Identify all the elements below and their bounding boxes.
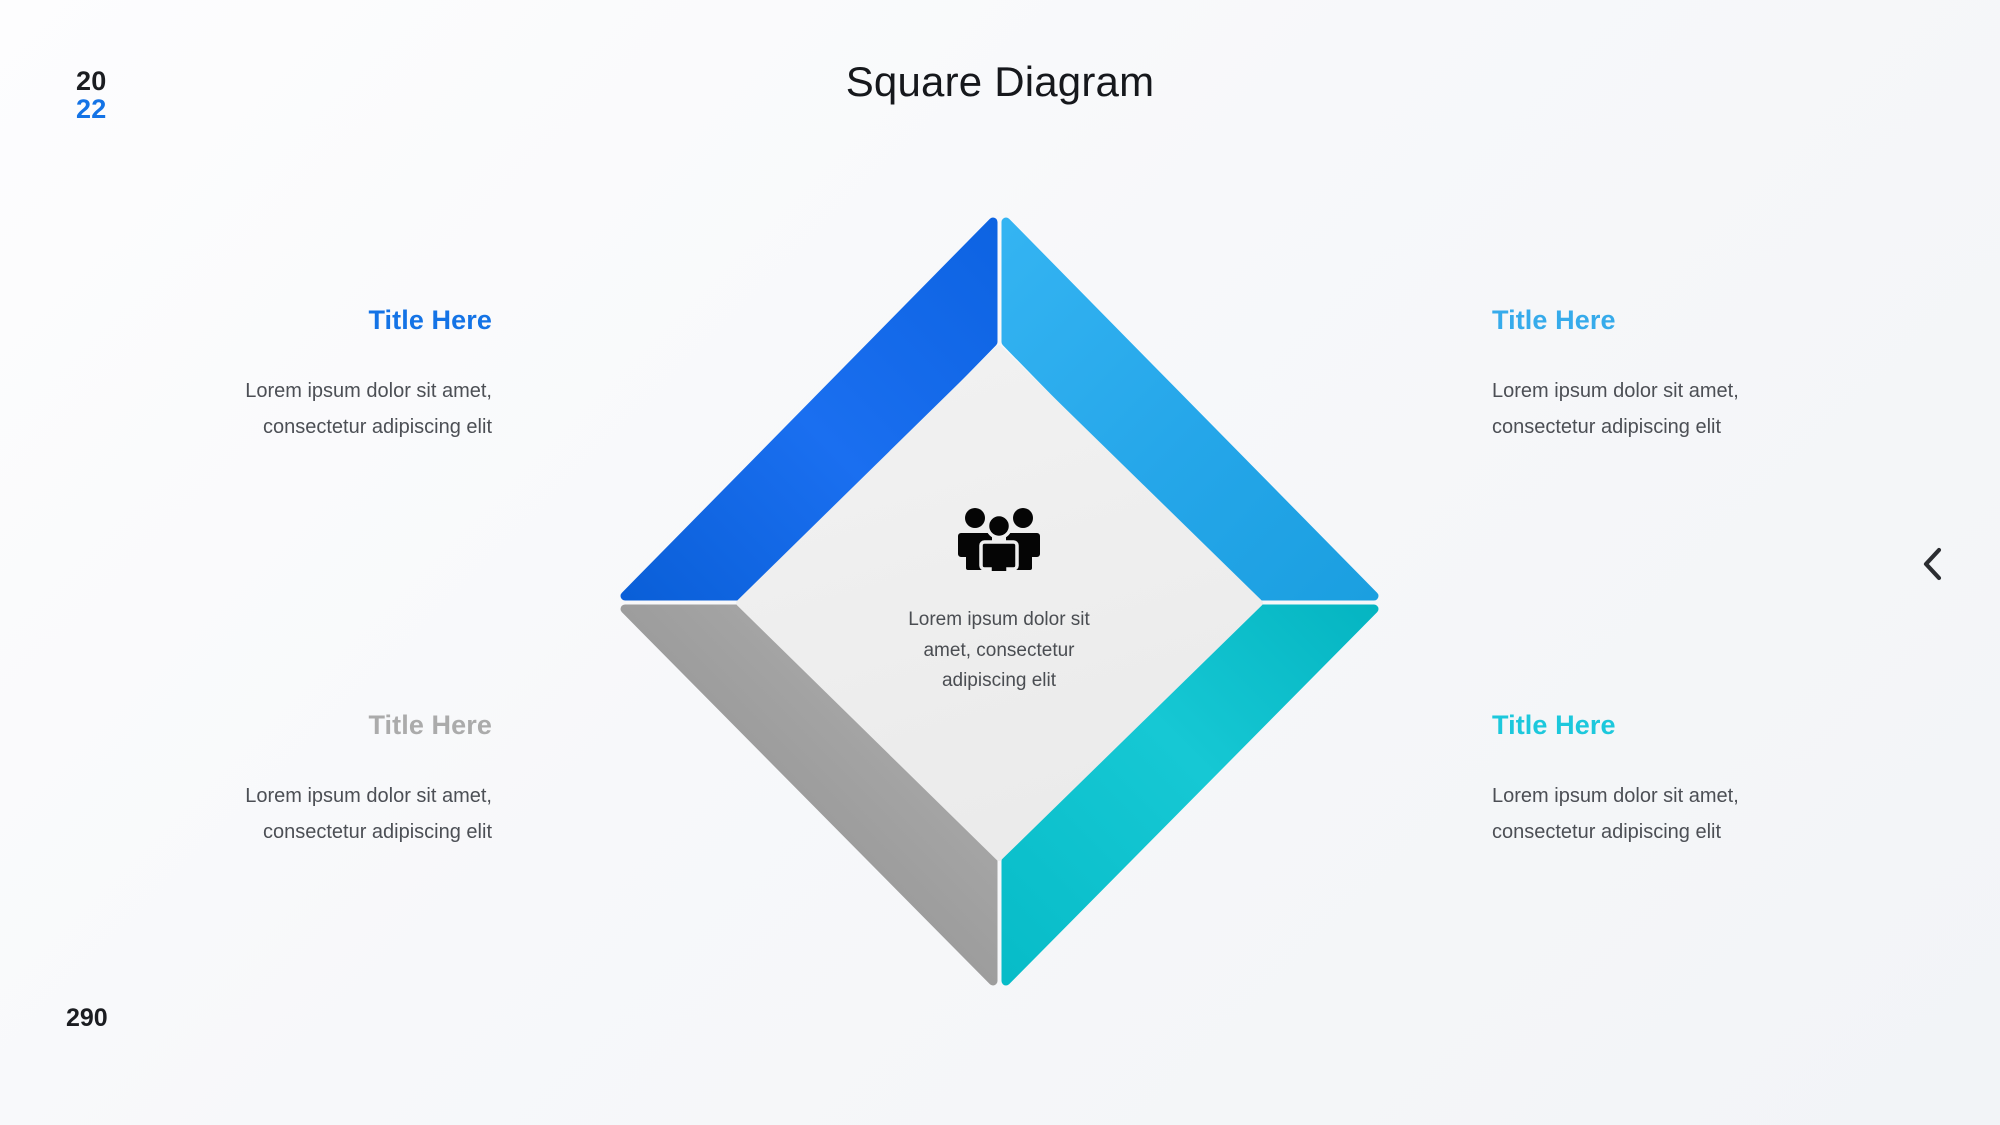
text-block-bottom-right[interactable]: Title Here Lorem ipsum dolor sit amet, c…	[1492, 710, 1822, 850]
block-title-top-left: Title Here	[162, 305, 492, 336]
center-content: Lorem ipsum dolor sit amet, consectetur …	[744, 346, 1254, 858]
slide-canvas: 20 22 Square Diagram	[0, 0, 2000, 1125]
block-body-bottom-left: Lorem ipsum dolor sit amet, consectetur …	[162, 779, 492, 850]
block-title-bottom-left: Title Here	[162, 710, 492, 741]
text-block-top-right[interactable]: Title Here Lorem ipsum dolor sit amet, c…	[1492, 305, 1822, 445]
text-block-top-left[interactable]: Title Here Lorem ipsum dolor sit amet, c…	[162, 305, 492, 445]
square-diagram: Lorem ipsum dolor sit amet, consectetur …	[617, 214, 1382, 989]
center-description: Lorem ipsum dolor sit amet, consectetur …	[883, 605, 1115, 697]
page-title: Square Diagram	[0, 58, 2000, 106]
group-people-icon	[958, 507, 1040, 571]
block-body-bottom-right: Lorem ipsum dolor sit amet, consectetur …	[1492, 779, 1822, 850]
block-title-top-right: Title Here	[1492, 305, 1822, 336]
page-number: 290	[66, 1004, 108, 1033]
block-body-top-left: Lorem ipsum dolor sit amet, consectetur …	[162, 374, 492, 445]
block-title-bottom-right: Title Here	[1492, 710, 1822, 741]
block-body-top-right: Lorem ipsum dolor sit amet, consectetur …	[1492, 374, 1822, 445]
text-block-bottom-left[interactable]: Title Here Lorem ipsum dolor sit amet, c…	[162, 710, 492, 850]
chevron-left-icon[interactable]	[1910, 542, 1954, 586]
